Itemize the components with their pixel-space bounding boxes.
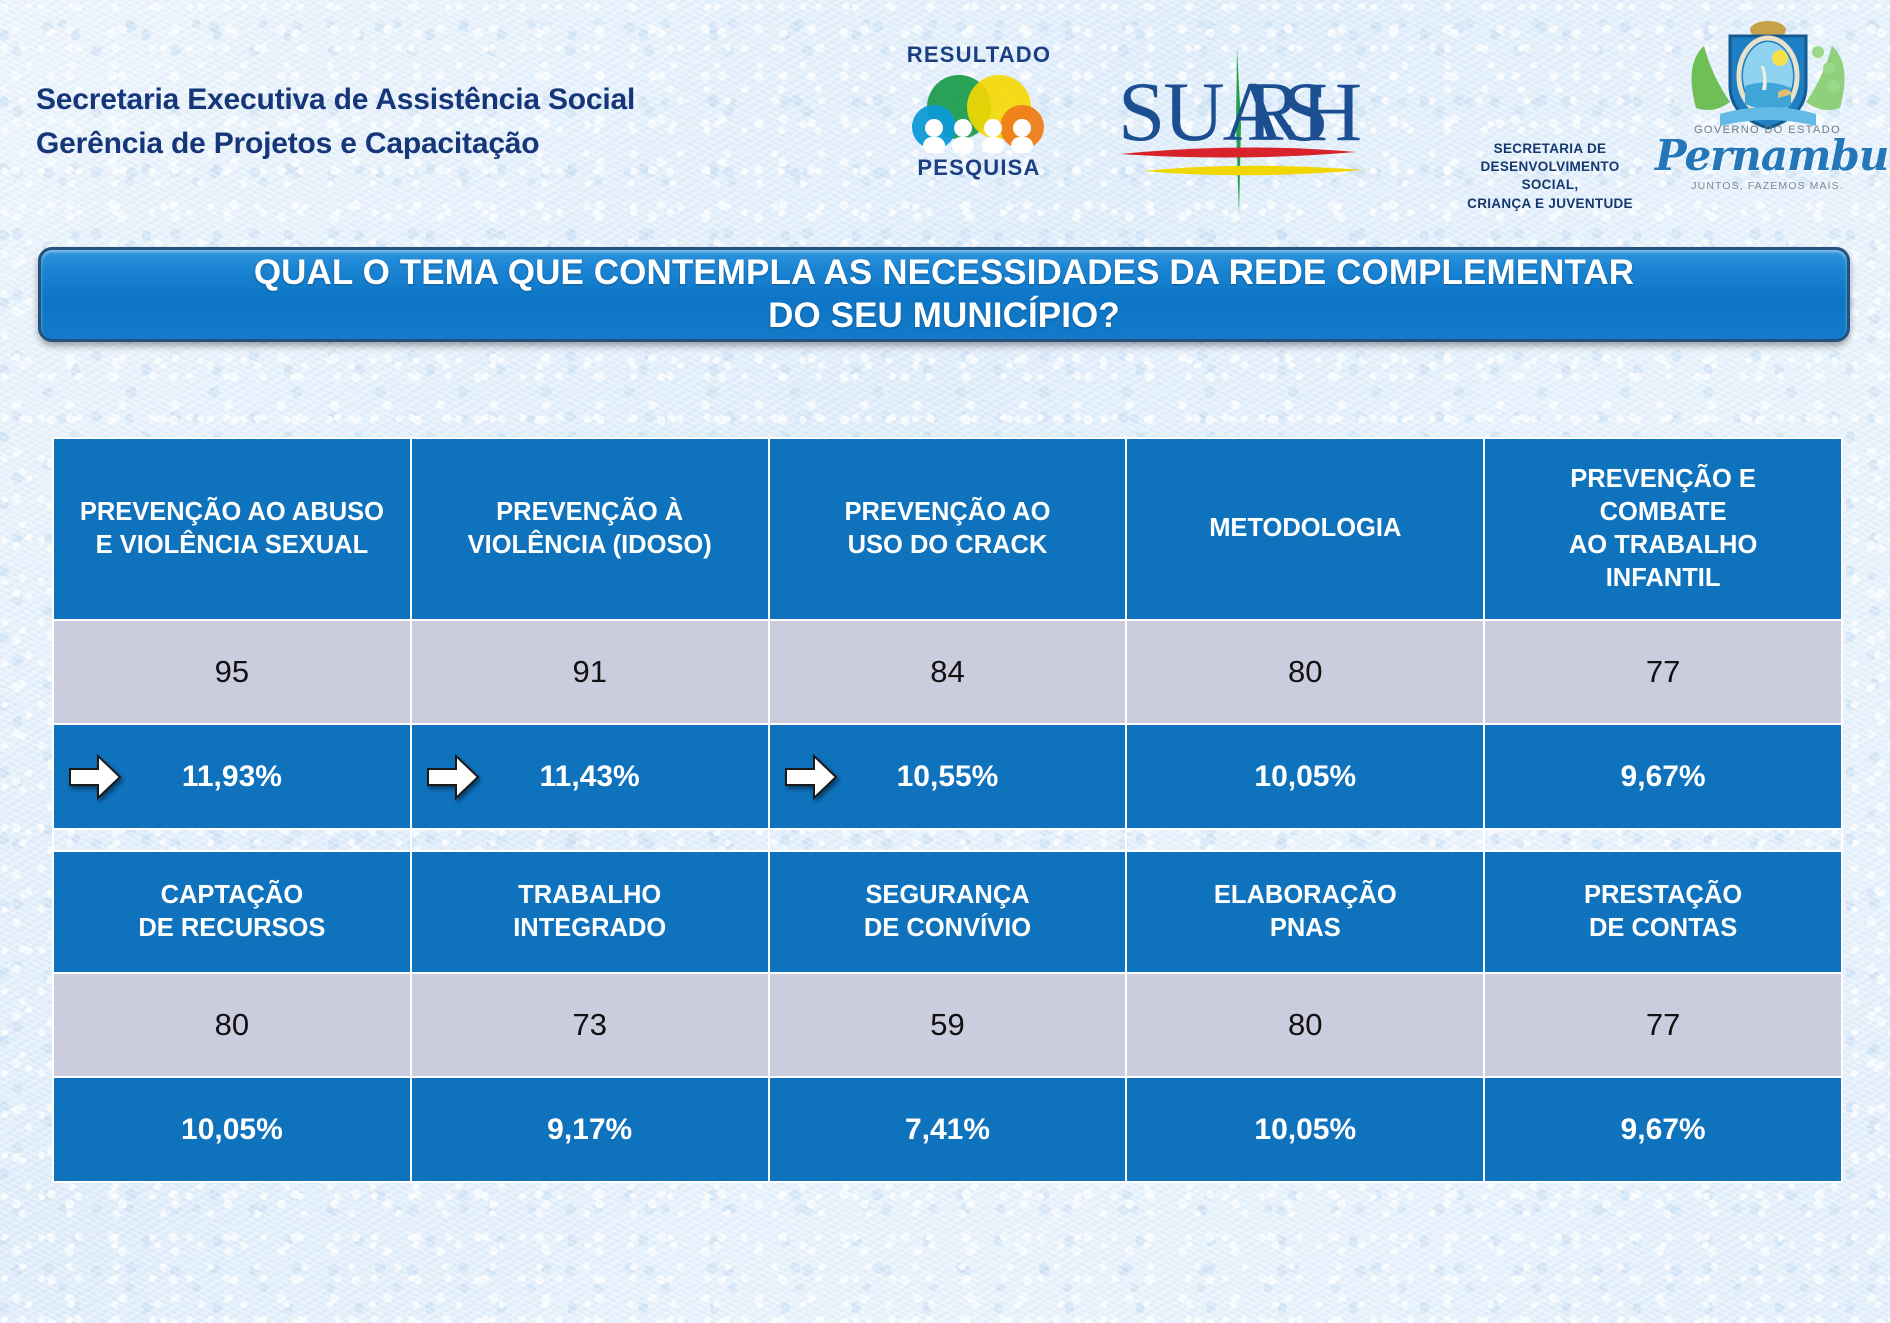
percent-value: 11,43% <box>540 760 640 794</box>
count-cell-9: 80 <box>1126 973 1484 1077</box>
slide-page: Secretaria Executiva de Assistência Soci… <box>0 0 1890 1323</box>
count-cell-8: 59 <box>769 973 1127 1077</box>
header-line: DE RECURSOS <box>62 912 402 945</box>
header-line: PREVENÇÃO E <box>1493 463 1833 496</box>
organization-title: Secretaria Executiva de Assistência Soci… <box>36 78 635 165</box>
table-header-cell-1: PREVENÇÃO AO ABUSO E VIOLÊNCIA SEXUAL <box>53 438 411 620</box>
percent-cell-8: 7,41% <box>769 1077 1127 1182</box>
percent-value: 10,55% <box>897 760 999 794</box>
percent-cell-10: 9,67% <box>1484 1077 1842 1182</box>
percent-cell-3: 10,55% <box>769 724 1127 829</box>
right-arrow-icon <box>426 754 480 800</box>
spacer-cell <box>769 829 1127 851</box>
spacer-cell <box>1126 829 1484 851</box>
header-line: PRESTAÇÃO <box>1493 879 1833 912</box>
header-line: DE CONTAS <box>1493 912 1833 945</box>
question-title-line2: DO SEU MUNICÍPIO? <box>254 295 1634 338</box>
secretaria-caption-line1: SECRETARIA DE <box>1452 140 1648 158</box>
pesquisa-label: PESQUISA <box>895 155 1063 181</box>
percent-value: 9,67% <box>1621 760 1706 794</box>
header-line: VIOLÊNCIA (IDOSO) <box>420 529 760 562</box>
table-row: 11,93% 11,43% <box>53 724 1842 829</box>
right-arrow-icon <box>784 754 838 800</box>
percent-value: 9,67% <box>1621 1113 1706 1147</box>
table-header-cell-2: PREVENÇÃO À VIOLÊNCIA (IDOSO) <box>411 438 769 620</box>
results-table-container: PREVENÇÃO AO ABUSO E VIOLÊNCIA SEXUAL PR… <box>52 437 1843 1183</box>
question-title-line1: QUAL O TEMA QUE CONTEMPLA AS NECESSIDADE… <box>254 252 1634 295</box>
organization-title-line1: Secretaria Executiva de Assistência Soci… <box>36 78 635 122</box>
header-line: E VIOLÊNCIA SEXUAL <box>62 529 402 562</box>
header-line: INFANTIL <box>1493 562 1833 595</box>
table-header-cell-3: PREVENÇÃO AO USO DO CRACK <box>769 438 1127 620</box>
percent-cell-1: 11,93% <box>53 724 411 829</box>
table-row: 95 91 84 80 77 <box>53 620 1842 724</box>
secretaria-caption-line2: DESENVOLVIMENTO SOCIAL, <box>1452 158 1648 194</box>
header-line: METODOLOGIA <box>1135 512 1475 545</box>
secretaria-caption-line3: CRIANÇA E JUVENTUDE <box>1452 195 1648 213</box>
resultado-pesquisa-logo: RESULTADO PESQUISA <box>895 42 1063 182</box>
header-line: DE CONVÍVIO <box>778 912 1118 945</box>
table-row: 80 73 59 80 77 <box>53 973 1842 1077</box>
header-line: INTEGRADO <box>420 912 760 945</box>
suasrh-logo: SUAS RH <box>1110 30 1370 220</box>
percent-value: 11,93% <box>182 760 282 794</box>
header-line: CAPTAÇÃO <box>62 879 402 912</box>
count-cell-5: 77 <box>1484 620 1842 724</box>
percent-cell-4: 10,05% <box>1126 724 1484 829</box>
table-row: 10,05% 9,17% 7,41% <box>53 1077 1842 1182</box>
count-cell-2: 91 <box>411 620 769 724</box>
header-line: ELABORAÇÃO <box>1135 879 1475 912</box>
table-header-cell-5: PREVENÇÃO E COMBATE AO TRABALHO INFANTIL <box>1484 438 1842 620</box>
spacer-cell <box>411 829 769 851</box>
resultado-people-icon <box>904 71 1054 153</box>
header-line: PREVENÇÃO À <box>420 496 760 529</box>
question-title-banner: QUAL O TEMA QUE CONTEMPLA AS NECESSIDADE… <box>38 247 1850 342</box>
question-title-text: QUAL O TEMA QUE CONTEMPLA AS NECESSIDADE… <box>254 252 1634 337</box>
header-line: PNAS <box>1135 912 1475 945</box>
count-cell-10: 77 <box>1484 973 1842 1077</box>
table-row: CAPTAÇÃO DE RECURSOS TRABALHO INTEGRADO … <box>53 851 1842 973</box>
organization-title-line2: Gerência de Projetos e Capacitação <box>36 122 635 166</box>
header-line: USO DO CRACK <box>778 529 1118 562</box>
header-line: TRABALHO <box>420 879 760 912</box>
header-line: COMBATE <box>1493 496 1833 529</box>
header-line: AO TRABALHO <box>1493 529 1833 562</box>
secretaria-caption: SECRETARIA DE DESENVOLVIMENTO SOCIAL, CR… <box>1452 140 1648 213</box>
pernambuco-name: Pernambuco <box>1655 136 1880 176</box>
count-cell-1: 95 <box>53 620 411 724</box>
count-cell-4: 80 <box>1126 620 1484 724</box>
percent-value: 10,05% <box>1254 760 1356 794</box>
resultado-label: RESULTADO <box>895 42 1063 68</box>
header-line: SEGURANÇA <box>778 879 1118 912</box>
spacer-cell <box>1484 829 1842 851</box>
count-cell-7: 73 <box>411 973 769 1077</box>
table-header-cell-10: PRESTAÇÃO DE CONTAS <box>1484 851 1842 973</box>
right-arrow-icon <box>68 754 122 800</box>
count-cell-3: 84 <box>769 620 1127 724</box>
table-row: PREVENÇÃO AO ABUSO E VIOLÊNCIA SEXUAL PR… <box>53 438 1842 620</box>
results-table: PREVENÇÃO AO ABUSO E VIOLÊNCIA SEXUAL PR… <box>52 437 1843 1183</box>
header-line: PREVENÇÃO AO <box>778 496 1118 529</box>
percent-cell-7: 9,17% <box>411 1077 769 1182</box>
pernambuco-motto: JUNTOS, FAZEMOS MAIS. <box>1655 180 1880 192</box>
percent-cell-6: 10,05% <box>53 1077 411 1182</box>
percent-value: 7,41% <box>905 1113 990 1147</box>
table-header-cell-4: METODOLOGIA <box>1126 438 1484 620</box>
table-header-cell-8: SEGURANÇA DE CONVÍVIO <box>769 851 1127 973</box>
header-line: PREVENÇÃO AO ABUSO <box>62 496 402 529</box>
count-cell-6: 80 <box>53 973 411 1077</box>
percent-value: 10,05% <box>1254 1113 1356 1147</box>
svg-text:RH: RH <box>1246 65 1360 159</box>
percent-cell-5: 9,67% <box>1484 724 1842 829</box>
pernambuco-coat-of-arms-icon <box>1655 18 1880 130</box>
pernambuco-logo: GOVERNO DO ESTADO Pernambuco JUNTOS, FAZ… <box>1655 18 1880 218</box>
spacer-cell <box>53 829 411 851</box>
percent-value: 9,17% <box>547 1113 632 1147</box>
percent-cell-2: 11,43% <box>411 724 769 829</box>
percent-cell-9: 10,05% <box>1126 1077 1484 1182</box>
table-header-cell-6: CAPTAÇÃO DE RECURSOS <box>53 851 411 973</box>
table-header-cell-9: ELABORAÇÃO PNAS <box>1126 851 1484 973</box>
page-header: Secretaria Executiva de Assistência Soci… <box>0 0 1890 230</box>
table-header-cell-7: TRABALHO INTEGRADO <box>411 851 769 973</box>
percent-value: 10,05% <box>181 1113 283 1147</box>
table-spacer-row <box>53 829 1842 851</box>
